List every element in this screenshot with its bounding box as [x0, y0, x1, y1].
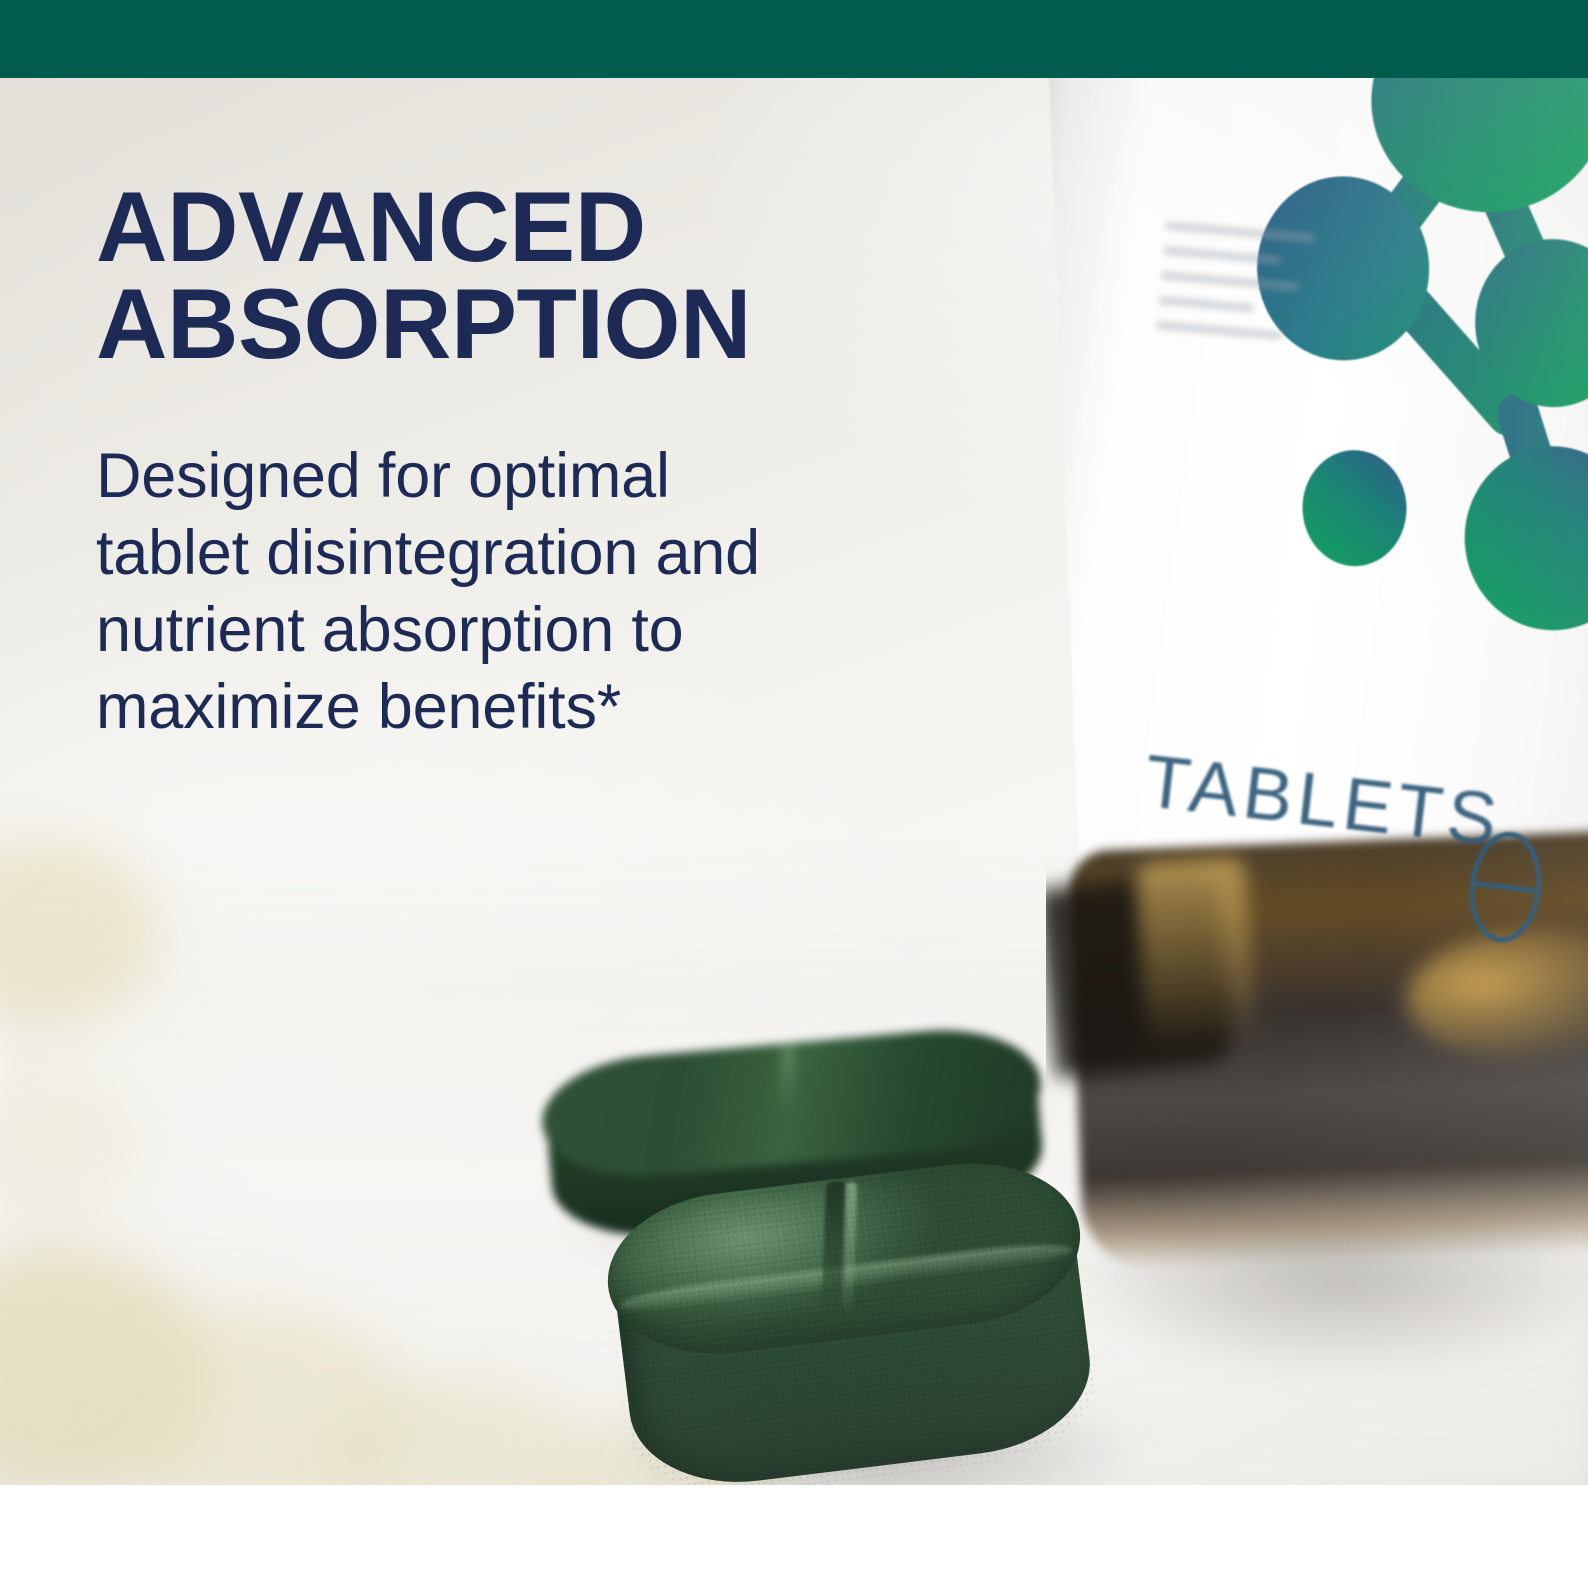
marketing-copy: ADVANCED ABSORPTION Designed for optimal… [96, 178, 996, 745]
footer: *These statements have not been evaluate… [0, 1485, 1588, 1588]
product-lifestyle-image: TABLETS ADVANCED ABSO [0, 0, 1588, 1588]
label-fine-print [1155, 221, 1335, 360]
tablet-foreground [598, 1150, 1106, 1485]
product-description: Designed for optimal tablet disintegrati… [96, 438, 996, 745]
brand-color-bar [0, 0, 1588, 78]
scored-tablet-icon [1459, 825, 1552, 949]
page-title: ADVANCED ABSORPTION [96, 178, 996, 372]
molecule-icon [1046, 78, 1588, 700]
